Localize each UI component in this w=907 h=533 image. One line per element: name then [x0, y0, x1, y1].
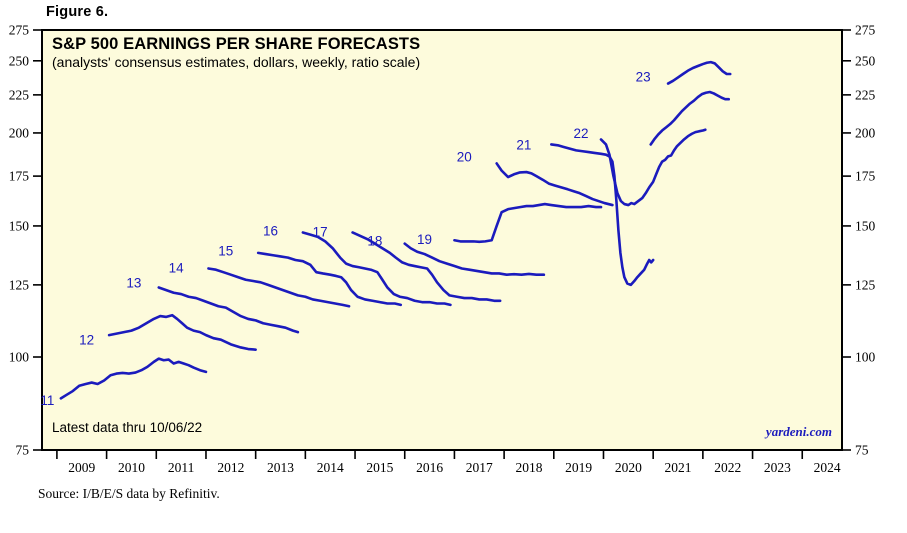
- y-tick-label-left: 100: [9, 350, 30, 365]
- source-note: Source: I/B/E/S data by Refinitiv.: [38, 486, 220, 502]
- chart-title: S&P 500 EARNINGS PER SHARE FORECASTS: [52, 35, 420, 53]
- x-tick-label: 2014: [317, 460, 344, 472]
- x-tick-label: 2012: [217, 460, 244, 472]
- series-label-19: 19: [417, 232, 432, 247]
- watermark: yardeni.com: [764, 424, 832, 439]
- y-tick-label-left: 75: [16, 443, 30, 458]
- x-tick-label: 2017: [466, 460, 493, 472]
- y-tick-label-left: 175: [9, 169, 30, 184]
- x-tick-label: 2009: [68, 460, 95, 472]
- x-tick-label: 2010: [118, 460, 145, 472]
- series-label-11: 11: [40, 393, 54, 408]
- series-label-13: 13: [126, 275, 141, 290]
- x-tick-label: 2020: [615, 460, 642, 472]
- y-tick-label-right: 200: [855, 125, 876, 140]
- series-label-20: 20: [457, 149, 472, 164]
- x-tick-label: 2021: [665, 460, 692, 472]
- chart-container: 75100125150175200225250275 7510012515017…: [0, 22, 907, 472]
- x-tick-label: 2022: [714, 460, 741, 472]
- eps-forecasts-chart: 75100125150175200225250275 7510012515017…: [0, 22, 907, 472]
- y-tick-label-right: 225: [855, 87, 876, 102]
- x-tick-label: 2013: [267, 460, 294, 472]
- y-tick-label-right: 250: [855, 53, 876, 68]
- y-tick-label-left: 250: [9, 53, 30, 68]
- x-tick-label: 2024: [814, 460, 841, 472]
- y-axis-left: 75100125150175200225250275: [9, 23, 42, 458]
- y-tick-label-right: 150: [855, 218, 876, 233]
- y-tick-label-right: 100: [855, 350, 876, 365]
- series-label-22: 22: [574, 126, 589, 141]
- x-tick-label: 2019: [565, 460, 592, 472]
- series-label-18: 18: [367, 233, 382, 248]
- series-label-23: 23: [636, 70, 651, 85]
- series-label-15: 15: [218, 244, 233, 259]
- y-tick-label-left: 200: [9, 125, 30, 140]
- y-tick-label-left: 225: [9, 87, 30, 102]
- series-label-21: 21: [516, 137, 531, 152]
- series-label-14: 14: [169, 260, 185, 275]
- x-axis: 2009201020112012201320142015201620172018…: [57, 450, 841, 472]
- x-tick-label: 2016: [416, 460, 443, 472]
- y-tick-label-right: 125: [855, 277, 876, 292]
- series-label-16: 16: [263, 223, 278, 238]
- chart-subtitle: (analysts' consensus estimates, dollars,…: [52, 54, 420, 70]
- y-tick-label-right: 175: [855, 169, 876, 184]
- series-label-12: 12: [79, 333, 94, 348]
- y-tick-label-left: 275: [9, 23, 30, 38]
- y-tick-label-right: 75: [855, 443, 869, 458]
- x-tick-label: 2023: [764, 460, 791, 472]
- figure-label: Figure 6.: [46, 4, 108, 20]
- x-tick-label: 2018: [515, 460, 542, 472]
- y-tick-label-left: 125: [9, 277, 30, 292]
- y-axis-right: 75100125150175200225250275: [842, 23, 876, 458]
- series-label-17: 17: [313, 224, 328, 239]
- x-tick-label: 2011: [168, 460, 195, 472]
- latest-data-note: Latest data thru 10/06/22: [52, 420, 202, 435]
- y-tick-label-right: 275: [855, 23, 876, 38]
- x-tick-label: 2015: [366, 460, 393, 472]
- y-tick-label-left: 150: [9, 218, 30, 233]
- plot-background: [42, 30, 842, 450]
